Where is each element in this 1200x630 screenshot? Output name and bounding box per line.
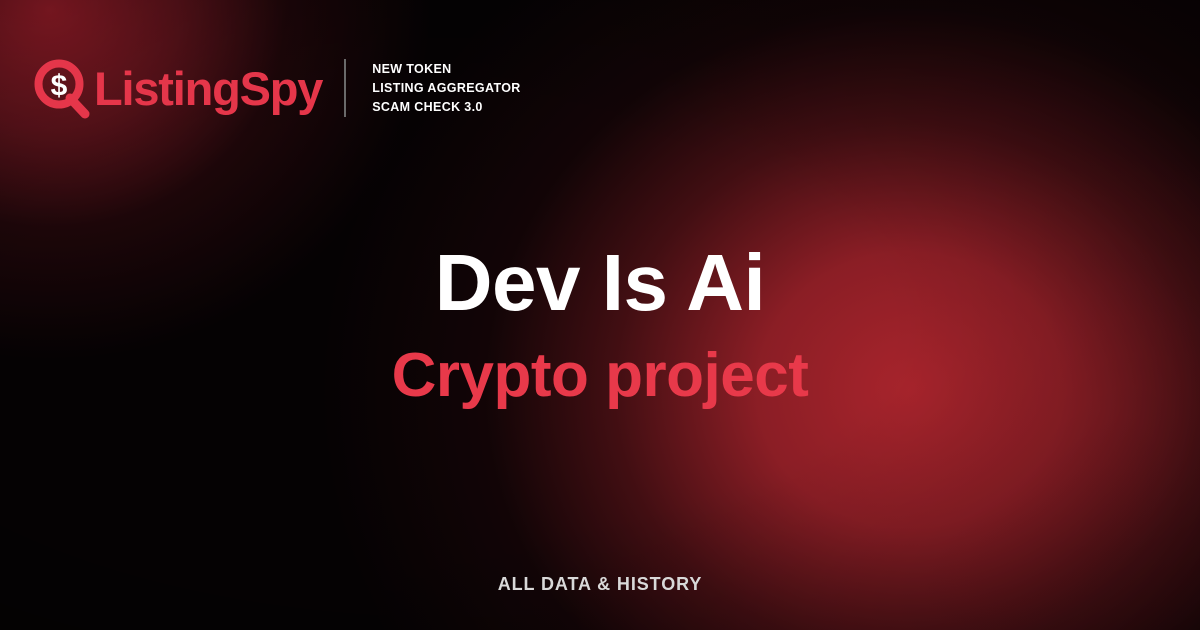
brand-header[interactable]: $ ListingSpy NEW TOKEN LISTING AGGREGATO… — [32, 52, 521, 124]
footer-caption: ALL DATA & HISTORY — [0, 574, 1200, 595]
brand-tagline: NEW TOKEN LISTING AGGREGATOR SCAM CHECK … — [372, 60, 520, 117]
page-subtitle: Crypto project — [0, 345, 1200, 407]
page-title: Dev Is Ai — [0, 243, 1200, 323]
brand-divider — [344, 59, 346, 117]
svg-text:$: $ — [51, 70, 68, 103]
og-card: $ ListingSpy NEW TOKEN LISTING AGGREGATO… — [0, 0, 1200, 630]
magnifier-dollar-icon: $ — [32, 57, 90, 119]
hero-block: Dev Is Ai Crypto project — [0, 243, 1200, 407]
tagline-line-1: NEW TOKEN — [372, 60, 520, 79]
brand-name: ListingSpy — [94, 65, 322, 112]
tagline-line-2: LISTING AGGREGATOR — [372, 79, 520, 98]
brand-logo[interactable]: $ ListingSpy — [32, 57, 322, 119]
tagline-line-3: SCAM CHECK 3.0 — [372, 98, 520, 117]
